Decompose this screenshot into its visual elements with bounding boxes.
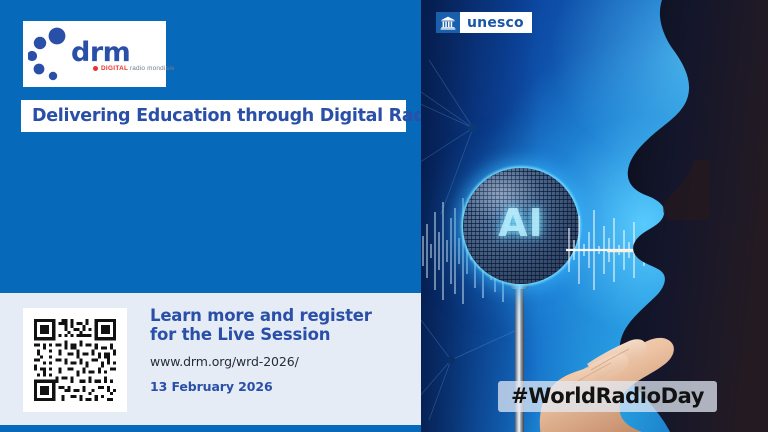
unesco-logo[interactable]: unesco bbox=[436, 12, 532, 33]
drm-tagline: DIGITAL radio mondiale bbox=[93, 66, 175, 73]
qr-code[interactable] bbox=[23, 308, 127, 412]
cta-heading: Learn more and register for the Live Ses… bbox=[150, 306, 412, 345]
drm-tagline-digital: DIGITAL bbox=[101, 65, 128, 72]
cta-text-block: Learn more and register for the Live Ses… bbox=[150, 306, 412, 394]
drm-tagline-rest: radio mondiale bbox=[130, 65, 175, 72]
world-radio-day-banner: drm DIGITAL radio mondiale Delivering Ed… bbox=[0, 0, 768, 432]
unesco-temple-icon bbox=[436, 12, 460, 33]
bottom-accent-bar bbox=[0, 425, 421, 432]
cta-heading-line1: Learn more and register bbox=[150, 306, 412, 325]
cta-event-date: 13 February 2026 bbox=[150, 379, 412, 394]
drm-wordmark: drm bbox=[71, 39, 130, 66]
unesco-wordmark: unesco bbox=[460, 12, 532, 33]
temple-glyph bbox=[440, 16, 456, 30]
drm-red-dot-icon bbox=[93, 66, 98, 71]
hashtag-badge: #WorldRadioDay bbox=[498, 381, 717, 412]
artwork-panel: AI bbox=[421, 0, 768, 432]
drm-logo[interactable]: drm DIGITAL radio mondiale bbox=[23, 21, 166, 87]
drm-dots-icon bbox=[28, 27, 74, 83]
headline-banner: Delivering Education through Digital Rad… bbox=[21, 100, 406, 132]
cta-url-link[interactable]: www.drm.org/wrd-2026/ bbox=[150, 354, 412, 369]
page-title: Delivering Education through Digital Rad… bbox=[32, 106, 443, 126]
hand-illustration bbox=[529, 318, 729, 432]
qr-code-icon bbox=[31, 316, 119, 404]
hashtag-text: #WorldRadioDay bbox=[511, 384, 704, 408]
cta-heading-line2: for the Live Session bbox=[150, 325, 412, 344]
